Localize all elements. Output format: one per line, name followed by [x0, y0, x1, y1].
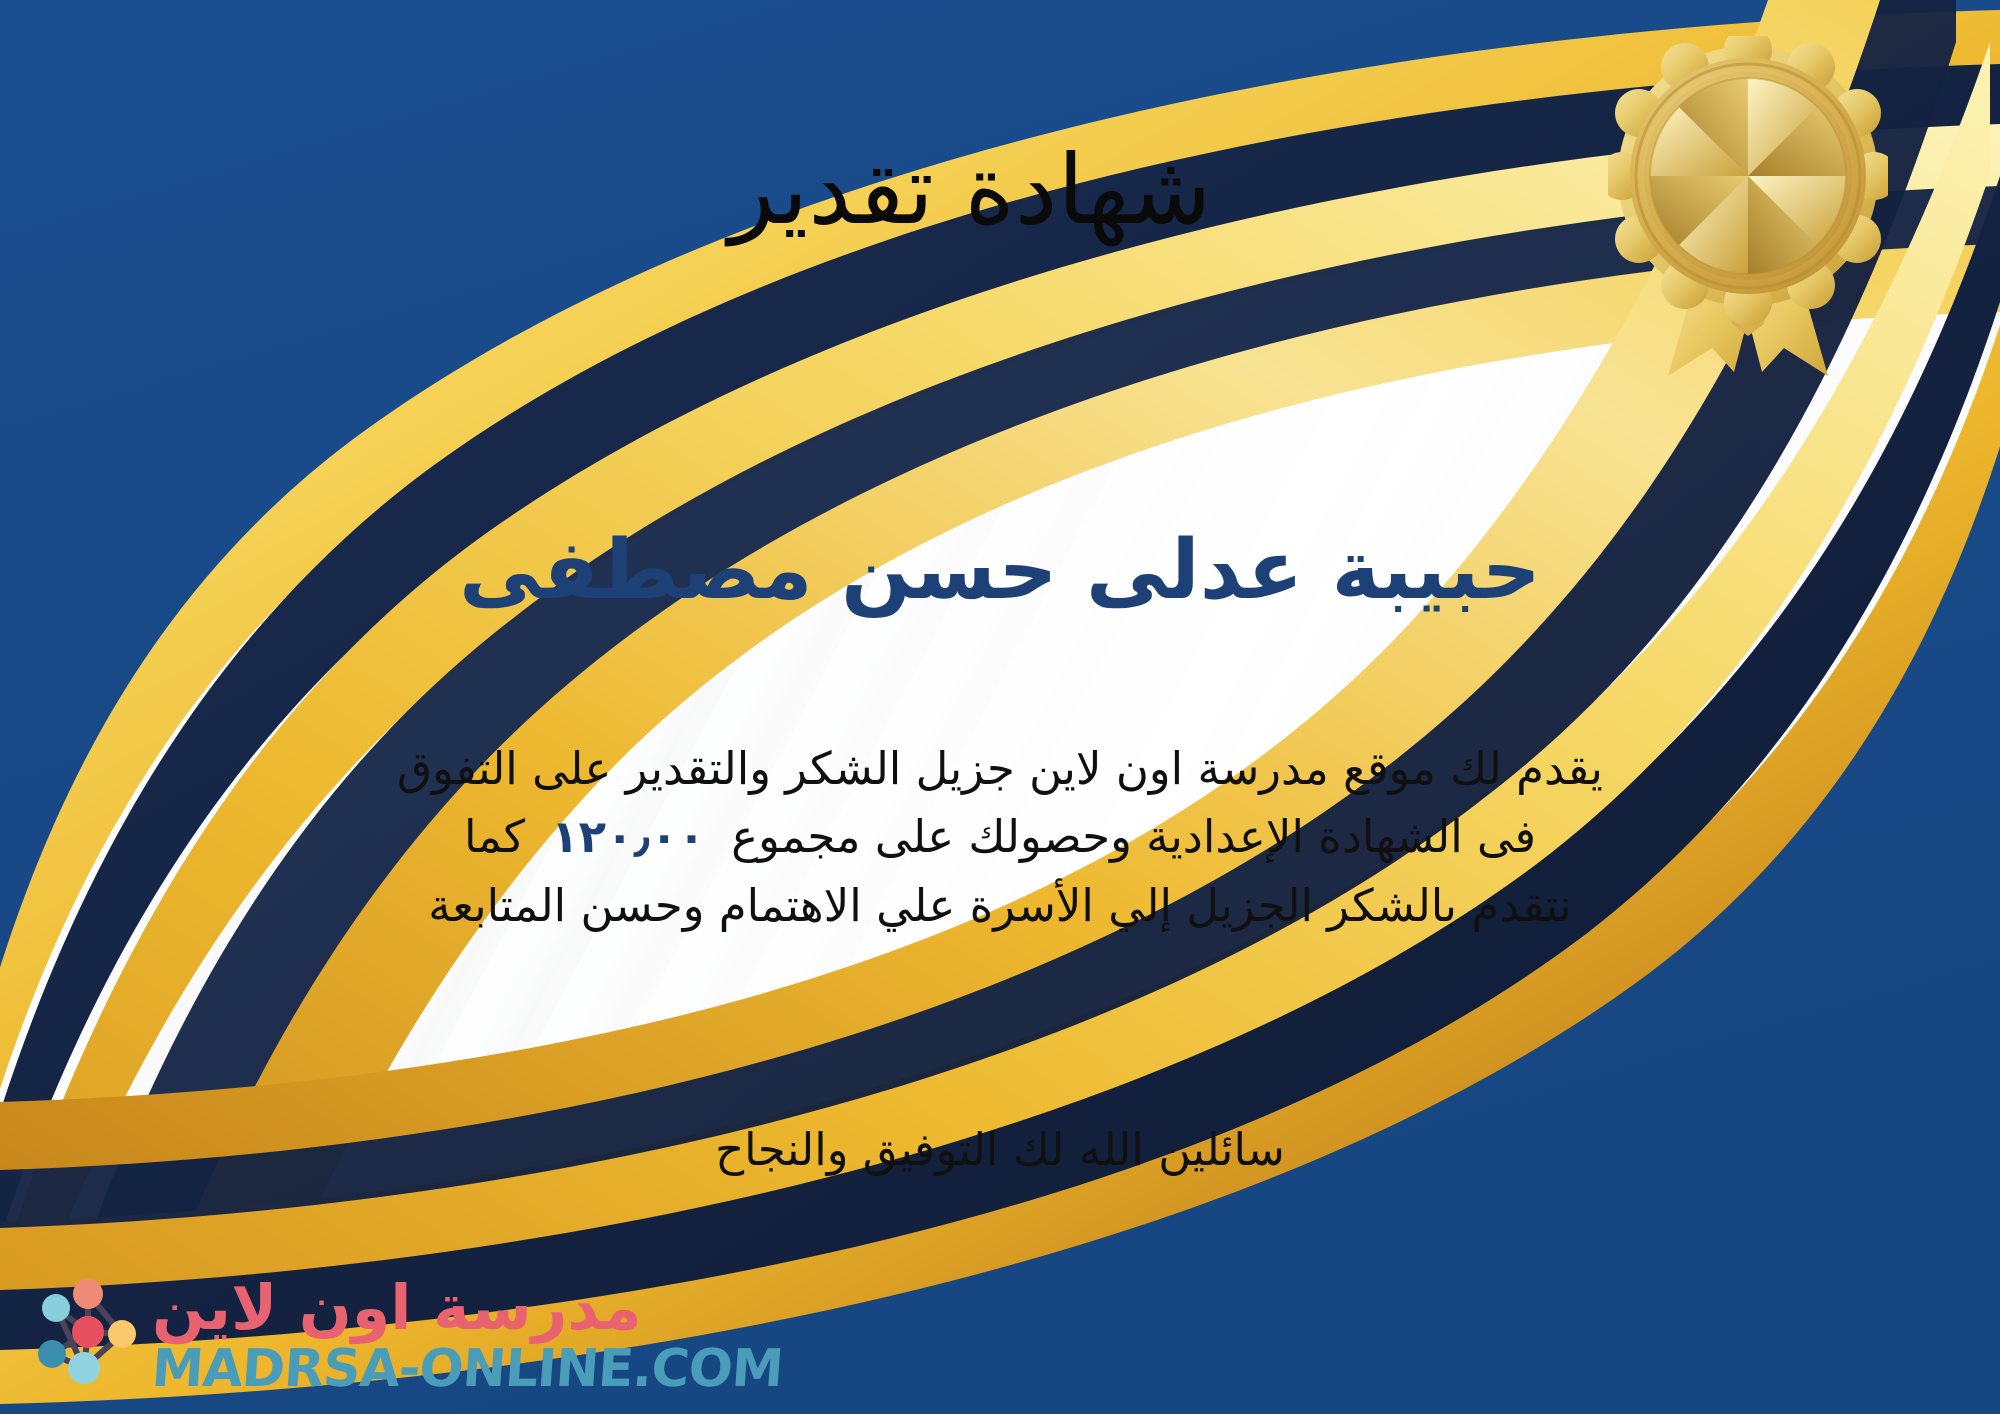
site-logo[interactable]: مدرسة اون لاين MADRSA-ONLINE.COM — [26, 1276, 783, 1396]
certificate-page: شهادة تقدير حبيبة عدلى حسن مصطفى يقدم لك… — [0, 0, 2000, 1414]
certificate-body: يقدم لك موقع مدرسة اون لاين جزيل الشكر و… — [62, 735, 1938, 940]
body-line-3: نتقدم بالشكر الجزيل إلي الأسرة علي الاهت… — [62, 872, 1938, 940]
body-line-2: فى الشهادة الإعدادية وحصولك على مجموع١٢٠… — [62, 803, 1938, 871]
logo-text-group: مدرسة اون لاين MADRSA-ONLINE.COM — [152, 1277, 783, 1395]
closing-line: سائلين الله لك التوفيق والنجاح — [0, 1116, 2000, 1184]
logo-arabic-name: مدرسة اون لاين — [152, 1277, 642, 1339]
logo-domain: MADRSA-ONLINE.COM — [150, 1343, 784, 1395]
certificate-title: شهادة تقدير — [0, 132, 2000, 249]
body-line-1: يقدم لك موقع مدرسة اون لاين جزيل الشكر و… — [62, 735, 1938, 803]
network-nodes-icon — [26, 1276, 146, 1396]
score-value: ١٢٠٫٠٠ — [525, 810, 731, 863]
body-line-2-prefix: فى الشهادة الإعدادية وحصولك على مجموع — [731, 810, 1536, 863]
body-line-2-suffix: كما — [464, 810, 525, 863]
recipient-name: حبيبة عدلى حسن مصطفى — [0, 520, 2000, 623]
